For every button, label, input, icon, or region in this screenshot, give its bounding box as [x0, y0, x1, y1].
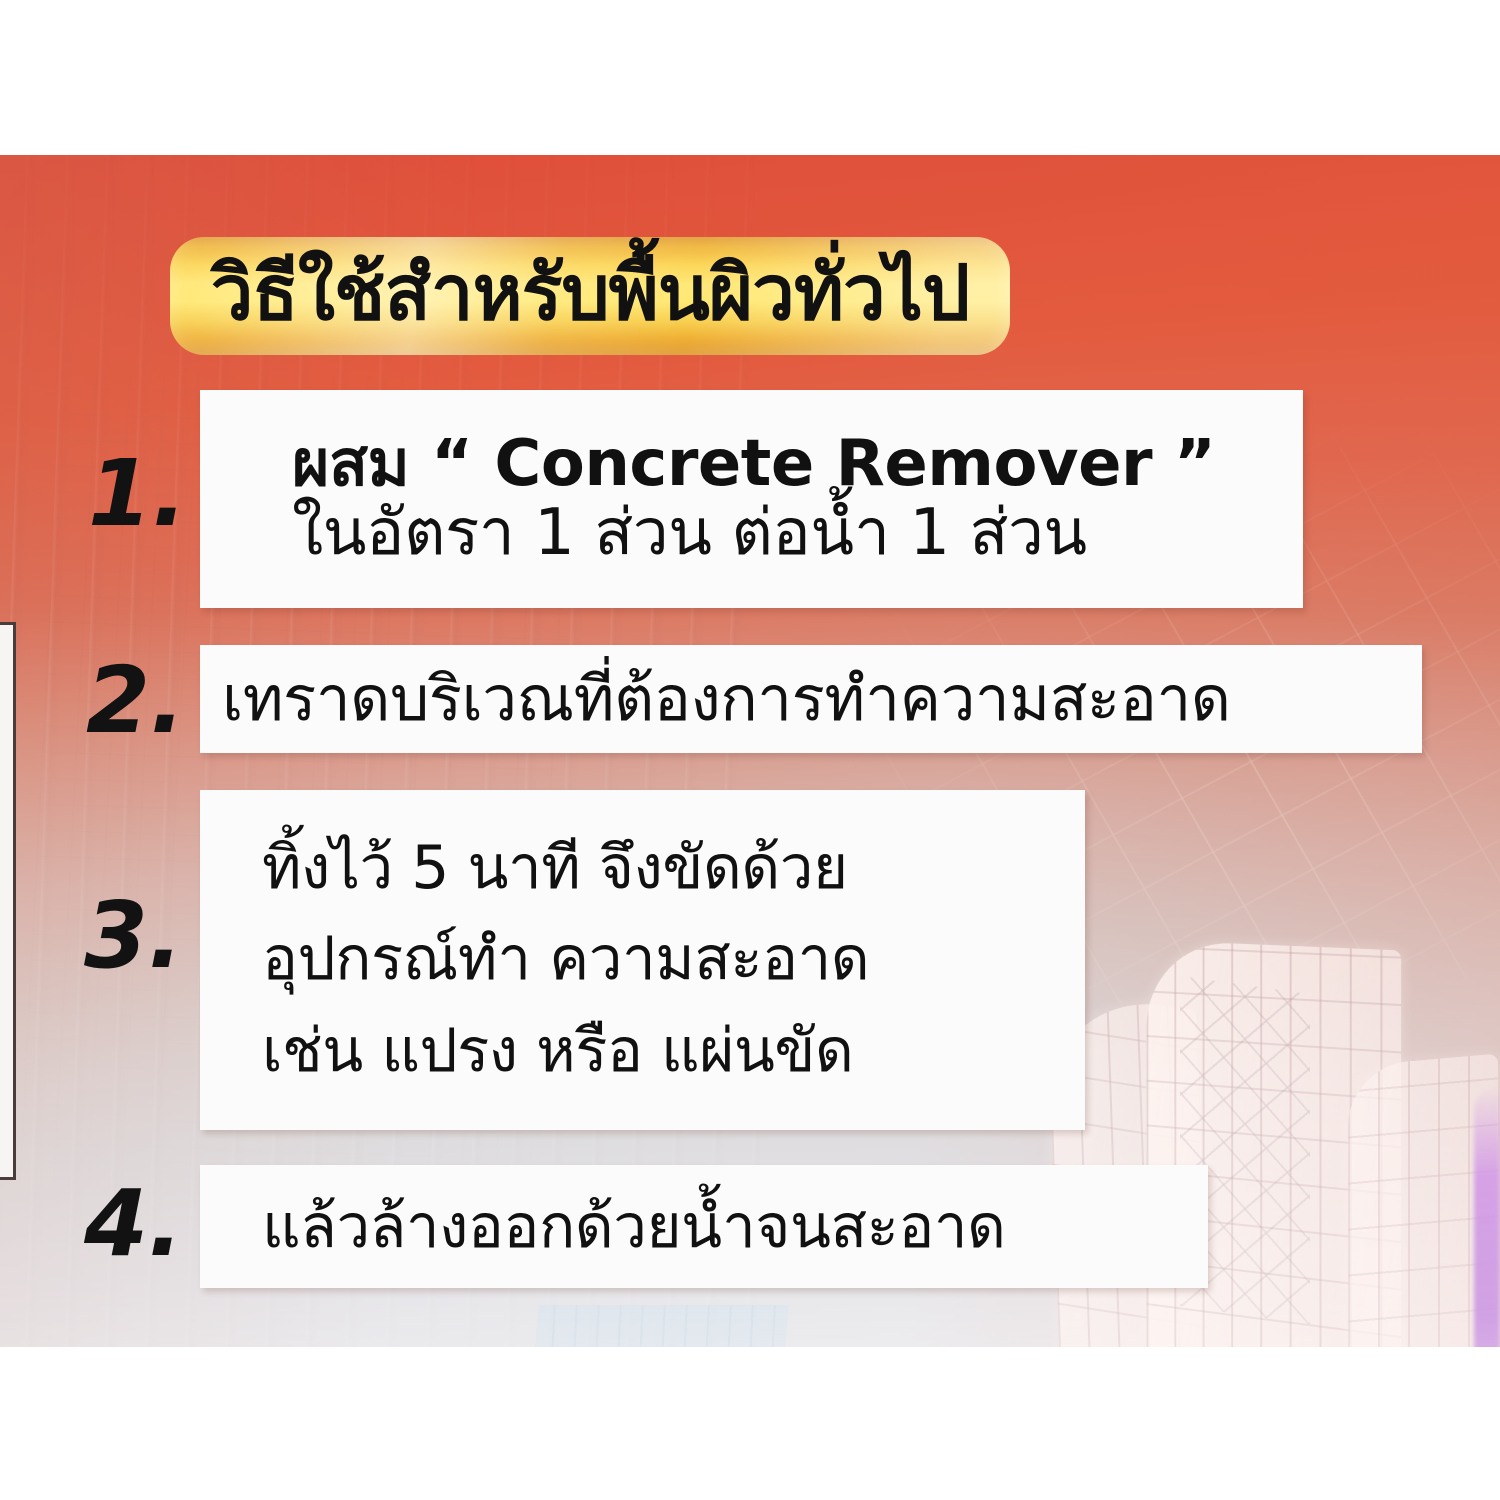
banner-title-text: วิธีใช้สำหรับพื้นผิวทั่วไป [211, 255, 969, 337]
step-box-1: ผสม “ Concrete Remover ” ในอัตรา 1 ส่วน … [200, 390, 1303, 608]
step-number-2: 2. [86, 655, 185, 747]
step-number-4: 4. [84, 1178, 183, 1270]
step-3-line-3: เช่น แปรง หรือ แผ่นขัด [262, 1006, 1085, 1097]
step-3-line-1: ทิ้งไว้ 5 นาที จึงขัดด้วย [262, 823, 1085, 914]
step-number-1: 1. [88, 448, 187, 540]
step-1-line-2: ในอัตรา 1 ส่วน ต่อน้ำ 1 ส่วน [292, 499, 1303, 568]
left-edge-panel [0, 622, 16, 1180]
step-box-3: ทิ้งไว้ 5 นาที จึงขัดด้วย อุปกรณ์ทำ ความ… [200, 790, 1085, 1130]
poster-root: วิธีใช้สำหรับพื้นผิวทั่วไป 1. ผสม “ Conc… [0, 0, 1500, 1500]
step-4-line-1: แล้วล้างออกด้วยน้ำจนสะอาด [262, 1197, 1208, 1257]
step-number-3: 3. [84, 890, 183, 982]
step-1-line-1: ผสม “ Concrete Remover ” [292, 430, 1303, 499]
step-2-line-1: เทราดบริเวณที่ต้องการทำความสะอาด [222, 668, 1422, 730]
step-box-2: เทราดบริเวณที่ต้องการทำความสะอาด [200, 645, 1422, 753]
step-box-4: แล้วล้างออกด้วยน้ำจนสะอาด [200, 1165, 1208, 1288]
step-3-line-2: อุปกรณ์ทำ ความสะอาด [262, 914, 1085, 1005]
title-banner: วิธีใช้สำหรับพื้นผิวทั่วไป [170, 237, 1010, 355]
